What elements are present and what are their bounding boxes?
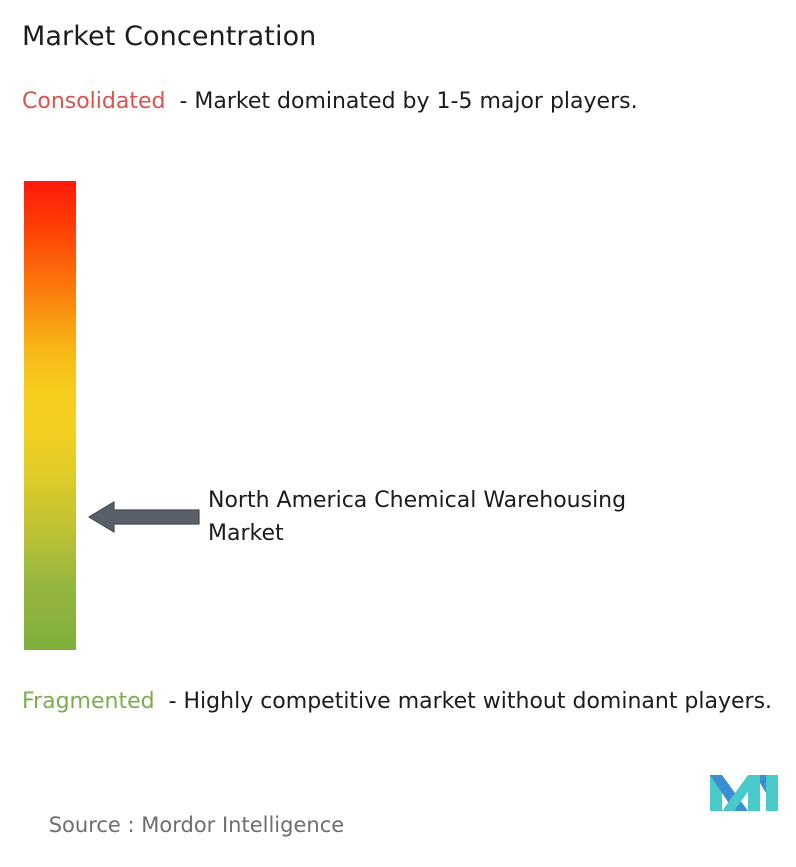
legend-fragmented-description: Highly competitive market without domina… [184,689,773,714]
legend-consolidated-description: Market dominated by 1-5 major players. [194,89,637,114]
source-label: Source : [49,813,142,837]
market-concentration-figure: Market Concentration Consolidated - Mark… [0,0,796,834]
page-title: Market Concentration [22,20,316,54]
source-name: Mordor Intelligence [141,813,344,837]
legend-consolidated-keyword: Consolidated [22,89,165,114]
left-arrow-icon [89,502,199,532]
legend-consolidated: Consolidated - Market dominated by 1-5 m… [22,86,774,118]
mordor-intelligence-logo [710,773,778,813]
legend-fragmented-separator: - [155,689,184,714]
mi-logo-icon [710,773,778,813]
source-attribution: Source : Mordor Intelligence [22,783,344,867]
concentration-gradient-bar [24,181,76,650]
legend-fragmented-keyword: Fragmented [22,689,155,714]
market-pointer-label: North America Chemical Warehousing Marke… [208,484,628,550]
legend-consolidated-separator: - [165,89,194,114]
legend-fragmented: Fragmented - Highly competitive market w… [22,686,784,718]
market-pointer-arrow [88,498,200,536]
